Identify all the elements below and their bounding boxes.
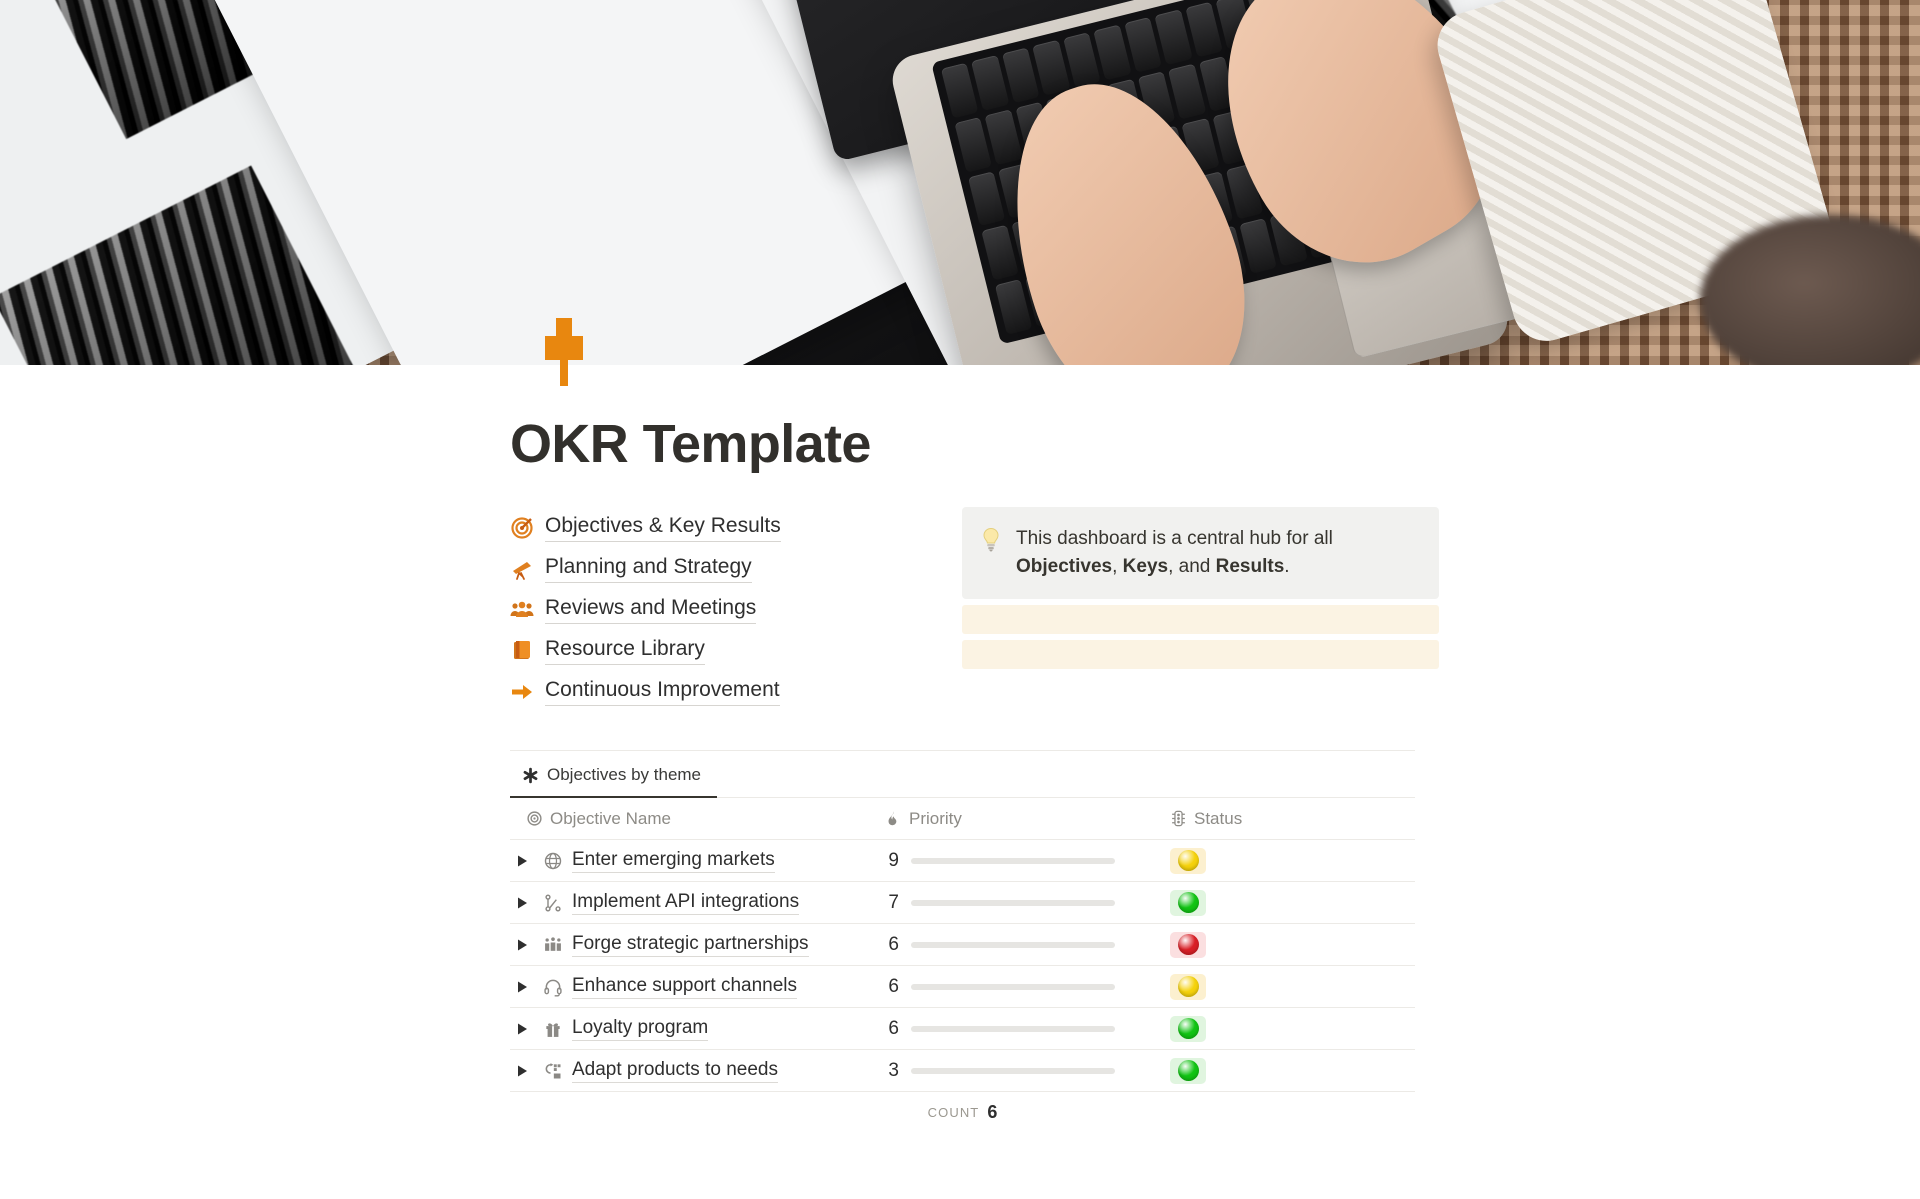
orange-book-icon	[510, 639, 534, 663]
objective-name-label: Adapt products to needs	[572, 1059, 778, 1083]
transform-icon	[543, 1061, 563, 1081]
column-header-status[interactable]: Status	[1170, 809, 1415, 829]
nav-link-planning-and-strategy[interactable]: Planning and Strategy	[510, 548, 940, 589]
nav-link-resource-library[interactable]: Resource Library	[510, 630, 940, 671]
cell-objective-name[interactable]: Enhance support channels	[510, 975, 885, 999]
column-header-priority[interactable]: Priority	[885, 809, 1170, 829]
collapsed-triangle-icon[interactable]	[510, 897, 534, 909]
callout-sep-2: , and	[1168, 556, 1216, 577]
priority-value: 9	[885, 850, 899, 872]
objective-name-label: Enter emerging markets	[572, 849, 775, 873]
callout-text: This dashboard is a central hub for all …	[1016, 525, 1419, 581]
priority-value: 7	[885, 892, 899, 914]
nav-link-label: Continuous Improvement	[545, 677, 780, 706]
column-header-label: Priority	[909, 809, 962, 829]
cell-status	[1170, 1058, 1415, 1084]
orange-pushpin-icon	[540, 318, 588, 388]
callout-sep-1: ,	[1112, 556, 1123, 577]
gift-icon	[543, 1019, 563, 1039]
empty-cream-block-1[interactable]	[962, 605, 1439, 634]
cell-objective-name[interactable]: Loyalty program	[510, 1017, 885, 1041]
table-row[interactable]: Adapt products to needs 3	[510, 1050, 1415, 1092]
cell-objective-name[interactable]: Enter emerging markets	[510, 849, 885, 873]
headset-icon	[543, 977, 563, 997]
objective-name-label: Implement API integrations	[572, 891, 799, 915]
nav-link-label: Reviews and Meetings	[545, 595, 756, 624]
column-header-objective-name[interactable]: Objective Name	[510, 809, 885, 829]
telescope-icon	[510, 557, 534, 581]
people-group-icon	[510, 598, 534, 622]
cell-status	[1170, 974, 1415, 1000]
collapsed-triangle-icon[interactable]	[510, 1065, 534, 1077]
nav-link-objectives-key-results[interactable]: Objectives & Key Results	[510, 507, 940, 548]
callout-column: This dashboard is a central hub for all …	[940, 507, 1415, 712]
priority-progress-bar	[911, 900, 1115, 906]
hero-banner-image	[0, 0, 1920, 365]
callout-tail: .	[1284, 556, 1289, 577]
priority-progress-bar	[911, 942, 1115, 948]
priority-progress-bar	[911, 858, 1115, 864]
priority-value: 6	[885, 976, 899, 998]
right-arrow-icon	[510, 680, 534, 704]
status-dot	[1178, 1018, 1199, 1039]
priority-value: 6	[885, 934, 899, 956]
priority-value: 6	[885, 1018, 899, 1040]
status-badge	[1170, 848, 1206, 874]
cell-priority: 6	[885, 934, 1170, 956]
target-dart-icon	[510, 516, 534, 540]
cell-priority: 7	[885, 892, 1170, 914]
status-badge	[1170, 1016, 1206, 1042]
collapsed-triangle-icon[interactable]	[510, 855, 534, 867]
table-row[interactable]: Loyalty program 6	[510, 1008, 1415, 1050]
objective-name-label: Enhance support channels	[572, 975, 797, 999]
status-dot	[1178, 976, 1199, 997]
table-footer-count: COUNT 6	[510, 1092, 1415, 1132]
callout-bold-results: Results	[1216, 556, 1285, 577]
nav-link-label: Planning and Strategy	[545, 554, 752, 583]
info-callout: This dashboard is a central hub for all …	[962, 507, 1439, 599]
objectives-database: Objectives by theme Objective Name Prior…	[510, 750, 1415, 1132]
table-row[interactable]: Implement API integrations 7	[510, 882, 1415, 924]
cell-status	[1170, 848, 1415, 874]
traffic-light-icon	[1170, 810, 1187, 827]
cell-priority: 6	[885, 1018, 1170, 1040]
priority-value: 3	[885, 1060, 899, 1082]
collapsed-triangle-icon[interactable]	[510, 1023, 534, 1035]
status-badge	[1170, 974, 1206, 1000]
status-badge	[1170, 890, 1206, 916]
target-dart-icon	[526, 810, 543, 827]
empty-cream-block-2[interactable]	[962, 640, 1439, 669]
fire-icon	[885, 810, 902, 827]
status-dot	[1178, 850, 1199, 871]
tab-objectives-by-theme[interactable]: Objectives by theme	[510, 751, 717, 798]
nav-link-continuous-improvement[interactable]: Continuous Improvement	[510, 671, 940, 712]
network-api-icon	[543, 893, 563, 913]
table-row[interactable]: Forge strategic partnerships 6	[510, 924, 1415, 966]
status-dot	[1178, 892, 1199, 913]
page-content: OKR Template Objectives & Key Results Pl…	[0, 413, 1920, 1132]
status-badge	[1170, 1058, 1206, 1084]
cell-objective-name[interactable]: Forge strategic partnerships	[510, 933, 885, 957]
handshake-icon	[543, 935, 563, 955]
status-dot	[1178, 934, 1199, 955]
cell-priority: 9	[885, 850, 1170, 872]
cell-objective-name[interactable]: Adapt products to needs	[510, 1059, 885, 1083]
count-value: 6	[987, 1102, 997, 1123]
table-row[interactable]: Enter emerging markets 9	[510, 840, 1415, 882]
nav-link-reviews-and-meetings[interactable]: Reviews and Meetings	[510, 589, 940, 630]
priority-progress-bar	[911, 1026, 1115, 1032]
cell-priority: 6	[885, 976, 1170, 998]
cell-priority: 3	[885, 1060, 1170, 1082]
nav-link-label: Objectives & Key Results	[545, 513, 781, 542]
lightbulb-icon	[980, 527, 1002, 553]
cell-status	[1170, 890, 1415, 916]
cell-objective-name[interactable]: Implement API integrations	[510, 891, 885, 915]
column-header-label: Status	[1194, 809, 1242, 829]
callout-lead: This dashboard is a central hub for all	[1016, 528, 1333, 549]
asterisk-star-icon	[522, 767, 539, 784]
collapsed-triangle-icon[interactable]	[510, 939, 534, 951]
priority-progress-bar	[911, 1068, 1115, 1074]
nav-link-list: Objectives & Key Results Planning and St…	[510, 507, 940, 712]
top-columns: Objectives & Key Results Planning and St…	[510, 507, 1415, 712]
count-label: COUNT	[928, 1105, 980, 1120]
column-header-label: Objective Name	[550, 809, 671, 829]
table-header-row: Objective Name Priority Status	[510, 798, 1415, 840]
table-row[interactable]: Enhance support channels 6	[510, 966, 1415, 1008]
globe-icon	[543, 851, 563, 871]
hero-canvas	[0, 0, 1920, 365]
status-badge	[1170, 932, 1206, 958]
cell-status	[1170, 932, 1415, 958]
callout-bold-keys: Keys	[1123, 556, 1168, 577]
page-title: OKR Template	[510, 413, 1920, 475]
collapsed-triangle-icon[interactable]	[510, 981, 534, 993]
status-dot	[1178, 1060, 1199, 1081]
nav-link-label: Resource Library	[545, 636, 705, 665]
priority-progress-bar	[911, 984, 1115, 990]
objective-name-label: Forge strategic partnerships	[572, 933, 809, 957]
objective-name-label: Loyalty program	[572, 1017, 708, 1041]
callout-bold-objectives: Objectives	[1016, 556, 1112, 577]
database-view-tabs: Objectives by theme	[510, 751, 1415, 798]
cell-status	[1170, 1016, 1415, 1042]
tab-label: Objectives by theme	[547, 765, 701, 785]
